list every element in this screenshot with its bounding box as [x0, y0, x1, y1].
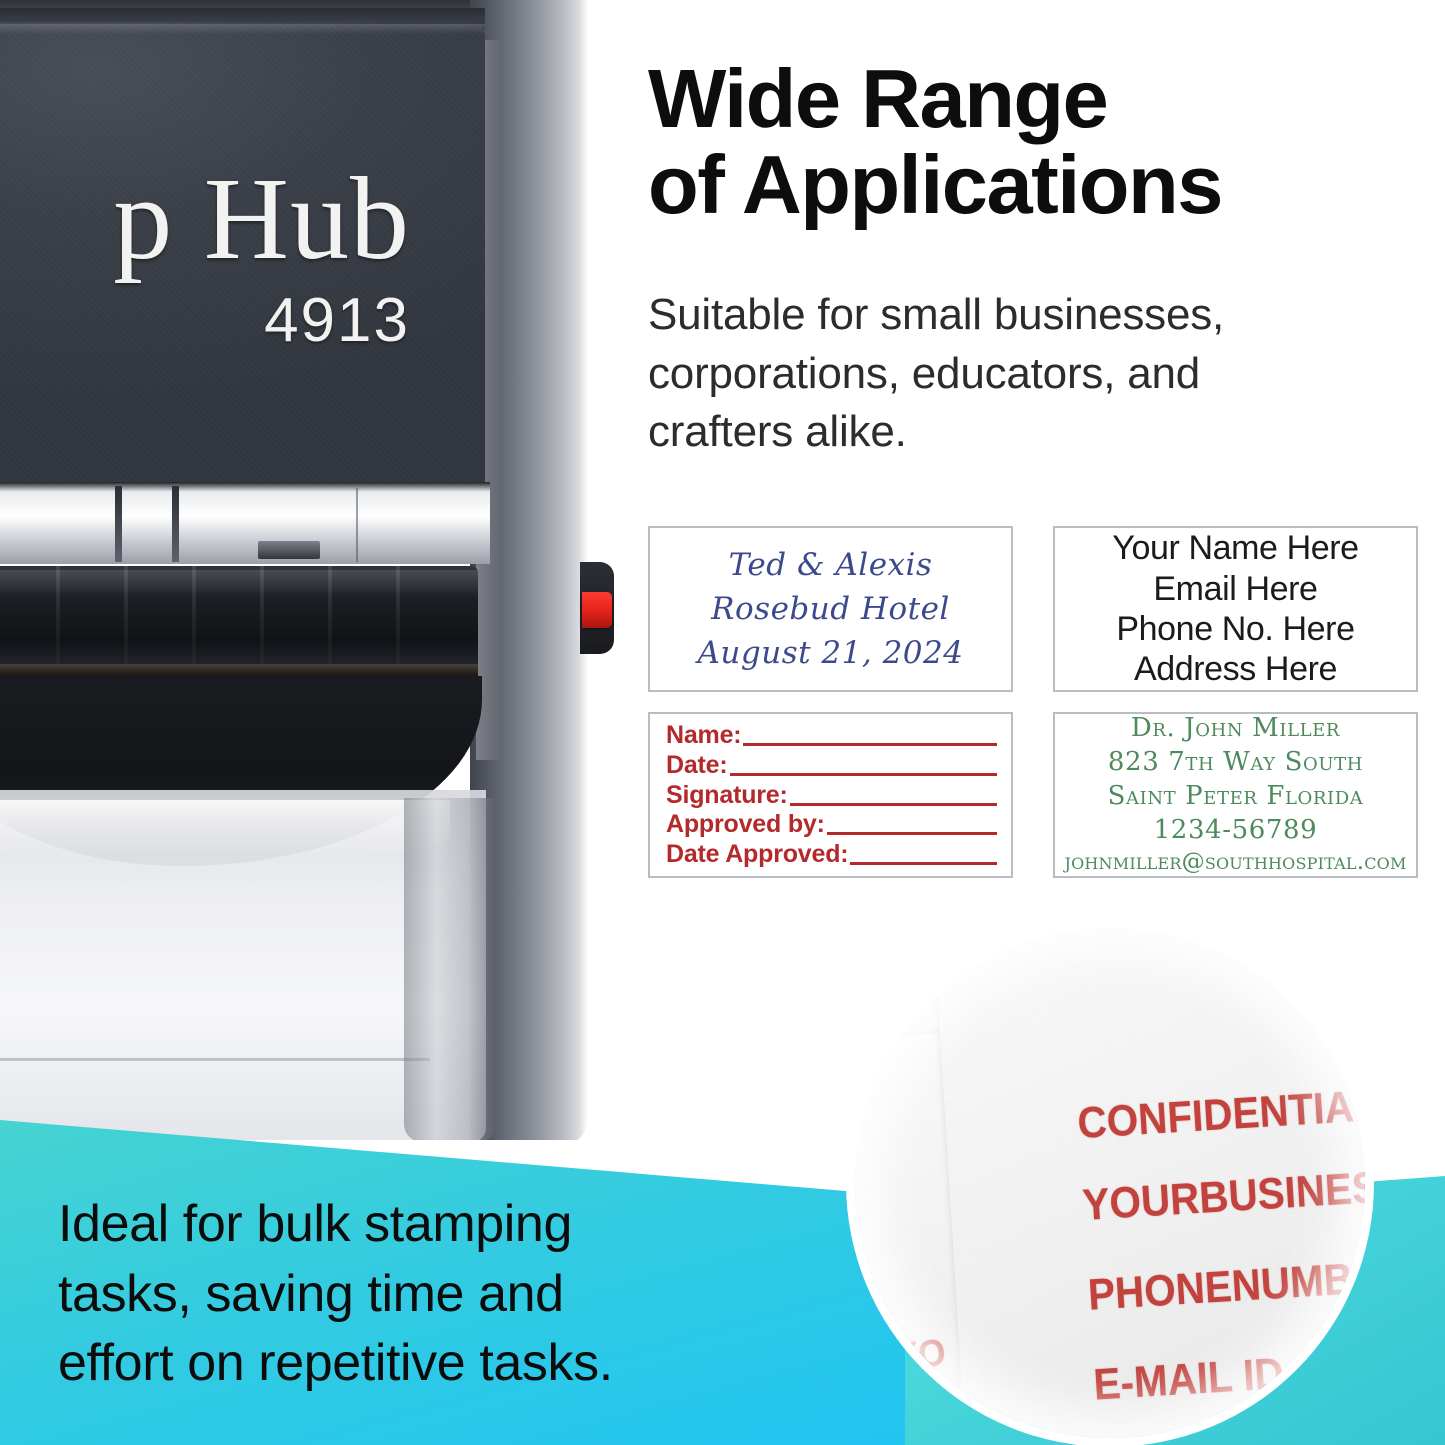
sample-approval-form-stamp: Name: Date: Signature: Approved by: Date…	[648, 712, 1013, 878]
stamp-brand-label: p Hub	[0, 160, 448, 278]
sample-contact-stamp: Your Name Here Email Here Phone No. Here…	[1053, 526, 1418, 692]
subheadline: Suitable for small businesses, corporati…	[648, 286, 1378, 462]
ink-line: PHONENUMBER	[978, 1248, 1365, 1324]
stamp-window-divider	[115, 486, 122, 562]
stamp-skirt-highlight	[0, 800, 450, 860]
form-row: Name:	[666, 723, 997, 748]
sample-line: Email Here	[1153, 569, 1317, 609]
stamp-rib	[192, 566, 196, 672]
stamp-body-sheen	[0, 24, 485, 34]
product-marketing-image: p Hub 4913 Wide Range of Applications	[0, 0, 1445, 1445]
headline-line-1: Wide Range	[648, 56, 1390, 142]
sample-line: Dr. John Miller	[1131, 712, 1340, 746]
sample-line: johnmiller@southhospital.com	[1064, 848, 1406, 878]
form-label: Date:	[666, 753, 728, 778]
stamp-skirt-post	[404, 798, 496, 1140]
stamp-window-seam	[356, 488, 358, 562]
stamp-red-lock-slider[interactable]	[582, 592, 612, 628]
stamp-model-number: 4913	[0, 290, 450, 352]
sample-script-wedding-stamp: Ted & Alexis Rosebud Hotel August 21, 20…	[648, 526, 1013, 692]
stamp-skirt-seam	[0, 1058, 430, 1061]
form-rule	[790, 803, 997, 806]
form-row: Signature:	[666, 783, 997, 808]
ink-line: CONFIDENTIAL	[968, 1076, 1365, 1152]
headline: Wide Range of Applications	[648, 56, 1390, 229]
sample-line: Your Name Here	[1112, 528, 1358, 568]
form-label: Date Approved:	[666, 842, 848, 867]
stamp-ink-window	[0, 482, 490, 564]
sample-line: August 21, 2024	[698, 631, 964, 675]
stamp-rib	[396, 566, 400, 672]
sample-line: Ted & Alexis	[729, 543, 933, 587]
stamped-sheet-front: CONFIDENTIAL YOURBUSINESSNAME PHONENUMBE…	[931, 928, 1365, 1438]
stamp-rib	[260, 566, 264, 672]
ink-line: E-MAIL ID	[984, 1338, 1365, 1414]
sample-line: 1234-56789	[1154, 814, 1318, 848]
form-label: Name:	[666, 723, 741, 748]
banner-line-1: Ideal for bulk stamping	[58, 1190, 848, 1260]
sample-line: Saint Peter Florida	[1108, 780, 1364, 814]
subheadline-line-2: corporations, educators, and	[648, 345, 1378, 404]
banner-line-2: tasks, saving time and	[58, 1260, 848, 1330]
form-rule	[743, 743, 997, 746]
headline-line-2: of Applications	[648, 142, 1390, 228]
form-row: Date Approved:	[666, 842, 997, 867]
stamp-rib	[124, 566, 128, 672]
subheadline-line-3: crafters alike.	[648, 403, 1378, 462]
sample-line: Address Here	[1134, 649, 1337, 689]
banner-line-3: effort on repetitive tasks.	[58, 1329, 848, 1399]
subheadline-line-1: Suitable for small businesses,	[648, 286, 1378, 345]
form-rule	[850, 862, 997, 865]
sample-line: Phone No. Here	[1116, 609, 1354, 649]
stamp-ink-pad-tab	[258, 541, 320, 559]
stamp-rib-gloss	[0, 570, 478, 596]
ink-line: YOURBUSINESSNAME	[973, 1158, 1365, 1234]
form-rule	[730, 773, 997, 776]
form-row: Date:	[666, 753, 997, 778]
stamped-papers-photo-inset: CON BU YO PH CONFIDENTIAL YOURBUSINESSNA…	[855, 928, 1365, 1438]
form-row: Approved by:	[666, 812, 997, 837]
form-label: Approved by:	[666, 812, 825, 837]
stamp-product-photo: p Hub 4913	[0, 0, 620, 1140]
form-rule	[827, 832, 997, 835]
stamp-rib	[328, 566, 332, 672]
form-label: Signature:	[666, 783, 788, 808]
stamp-ribbed-band	[0, 566, 478, 672]
stamp-sample-grid: Ted & Alexis Rosebud Hotel August 21, 20…	[648, 526, 1418, 878]
banner-text: Ideal for bulk stamping tasks, saving ti…	[58, 1190, 848, 1399]
stamp-rib	[56, 566, 60, 672]
stamp-window-divider	[172, 486, 179, 562]
sample-line: 823 7th Way South	[1108, 746, 1363, 780]
sample-line: Rosebud Hotel	[711, 587, 950, 631]
sample-doctor-address-stamp: Dr. John Miller 823 7th Way South Saint …	[1053, 712, 1418, 878]
